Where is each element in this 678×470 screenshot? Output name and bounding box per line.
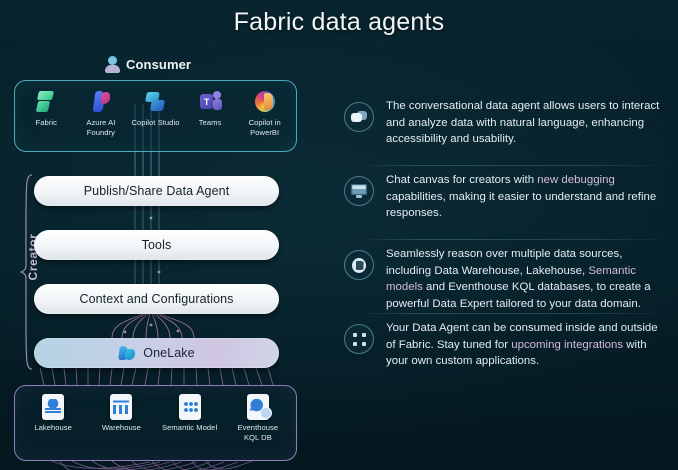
feature-item-multi-source-reasoning: Seamlessly reason over multiple data sou… xyxy=(340,240,672,314)
consumer-header: Consumer xyxy=(105,56,191,73)
app-label: Teams xyxy=(199,118,222,128)
layer-label: Context and Configurations xyxy=(79,292,233,306)
feature-text-after: and Eventhouse KQL databases, to create … xyxy=(386,281,651,310)
feature-text: Your Data Agent can be consumed inside a… xyxy=(386,314,668,370)
feature-text-before: Seamlessly reason over multiple data sou… xyxy=(386,248,622,277)
lakehouse-icon xyxy=(42,394,64,420)
data-source-label: Warehouse xyxy=(102,423,141,433)
data-source-semantic-model[interactable]: Semantic Model xyxy=(162,394,218,433)
app-item-copilot-powerbi[interactable]: Copilot in PowerBI xyxy=(237,89,292,137)
layer-label: Tools xyxy=(142,238,172,252)
app-item-fabric[interactable]: Fabric xyxy=(19,89,74,128)
app-label: Copilot Studio xyxy=(131,118,179,128)
layer-onelake[interactable]: OneLake xyxy=(34,338,279,368)
fabric-icon xyxy=(33,89,59,115)
database-icon xyxy=(344,250,374,280)
app-item-azure-ai-foundry[interactable]: Azure AI Foundry xyxy=(74,89,129,137)
page-title: Fabric data agents xyxy=(0,8,678,37)
chat-canvas-icon xyxy=(344,176,374,206)
copilot-studio-icon xyxy=(142,89,168,115)
data-source-eventhouse-kql[interactable]: Eventhouse KQL DB xyxy=(230,394,286,442)
feature-text: Chat canvas for creators with new debugg… xyxy=(386,166,668,222)
data-source-lakehouse[interactable]: Lakehouse xyxy=(25,394,81,433)
architecture-diagram: Consumer Fabric Azure AI Foundry Copilot… xyxy=(0,48,318,470)
copilot-powerbi-icon xyxy=(252,89,278,115)
feature-text-highlight: upcoming integrations xyxy=(511,339,623,351)
feature-list: The conversational data agent allows use… xyxy=(340,92,672,388)
layer-label: OneLake xyxy=(143,346,194,360)
feature-item-conversational-agent: The conversational data agent allows use… xyxy=(340,92,672,166)
teams-icon xyxy=(197,89,223,115)
feature-text-after: capabilities, making it easier to unders… xyxy=(386,191,656,220)
data-source-label: Semantic Model xyxy=(162,423,217,433)
app-label: Fabric xyxy=(36,118,57,128)
semantic-model-icon xyxy=(179,394,201,420)
app-label: Copilot in PowerBI xyxy=(237,118,292,137)
layer-label: Publish/Share Data Agent xyxy=(84,184,230,198)
consumer-surfaces-card: Fabric Azure AI Foundry Copilot Studio T… xyxy=(14,80,297,152)
feature-text-before: Chat canvas for creators with xyxy=(386,174,537,186)
feature-text: The conversational data agent allows use… xyxy=(386,92,668,148)
feature-item-consumption: Your Data Agent can be consumed inside a… xyxy=(340,314,672,388)
data-source-label: Lakehouse xyxy=(34,423,72,433)
warehouse-icon xyxy=(110,394,132,420)
data-source-label: Eventhouse KQL DB xyxy=(230,423,286,442)
feature-item-chat-canvas: Chat canvas for creators with new debugg… xyxy=(340,166,672,240)
grid-dots-icon xyxy=(344,324,374,354)
person-icon xyxy=(105,56,120,73)
azure-ai-foundry-icon xyxy=(88,89,114,115)
app-item-copilot-studio[interactable]: Copilot Studio xyxy=(128,89,183,128)
eventhouse-kql-icon xyxy=(247,394,269,420)
data-sources-card: Lakehouse Warehouse Semantic Model Event… xyxy=(14,385,297,461)
consumer-label: Consumer xyxy=(126,57,191,72)
data-source-warehouse[interactable]: Warehouse xyxy=(93,394,149,433)
layer-tools[interactable]: Tools xyxy=(34,230,279,260)
app-label: Azure AI Foundry xyxy=(74,118,129,137)
chat-bubble-icon xyxy=(344,102,374,132)
feature-text: Seamlessly reason over multiple data sou… xyxy=(386,240,668,312)
creator-bracket: Creator xyxy=(20,174,34,370)
layer-context-and-configurations[interactable]: Context and Configurations xyxy=(34,284,279,314)
feature-text-before: The conversational data agent allows use… xyxy=(386,100,659,145)
app-item-teams[interactable]: Teams xyxy=(183,89,238,128)
feature-text-highlight: new debugging xyxy=(537,174,615,186)
layer-publish-share-data-agent[interactable]: Publish/Share Data Agent xyxy=(34,176,279,206)
onelake-icon xyxy=(118,344,136,362)
